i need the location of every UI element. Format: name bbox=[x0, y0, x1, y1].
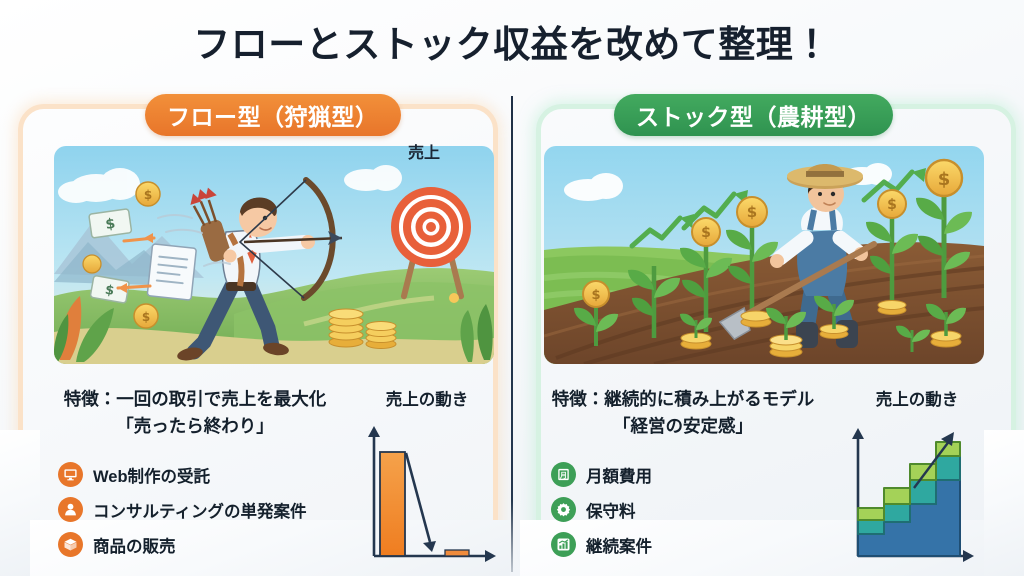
chart-flow-sales-trend: 売上の動き bbox=[352, 386, 502, 568]
badge-stock-type: ストック型（農耕型） bbox=[614, 94, 893, 136]
chart-flow-svg bbox=[352, 412, 502, 570]
list-item-label: 月額費用 bbox=[586, 463, 652, 487]
illustration-archer: $ $ bbox=[54, 146, 494, 364]
chart-stock-sales-trend: 売上の動き bbox=[842, 386, 992, 568]
list-item-label: Web制作の受託 bbox=[93, 463, 210, 487]
chart-title: 売上の動き bbox=[352, 386, 502, 410]
calendar-icon: 月 bbox=[551, 462, 576, 487]
list-item: 商品の販売 bbox=[58, 528, 307, 561]
svg-text:$: $ bbox=[747, 203, 757, 221]
feature-text-stock: 特徴：継続的に積み上がるモデル 「経営の安定感」 bbox=[533, 386, 833, 440]
list-item-label: コンサルティングの単発案件 bbox=[93, 498, 307, 522]
list-item-label: 商品の販売 bbox=[93, 533, 176, 557]
list-item: Web制作の受託 bbox=[58, 458, 307, 491]
growth-chart-icon bbox=[551, 532, 576, 557]
chart-stock-svg bbox=[842, 412, 992, 570]
list-item: 保守料 bbox=[551, 493, 652, 526]
box-icon bbox=[58, 532, 83, 557]
svg-text:$: $ bbox=[938, 169, 951, 190]
bullet-list-stock: 月 月額費用 保守料 継続案件 bbox=[551, 458, 652, 563]
bullet-list-flow: Web制作の受託 コンサルティングの単発案件 商品の販売 bbox=[58, 458, 307, 563]
list-item: コンサルティングの単発案件 bbox=[58, 493, 307, 526]
list-item: 継続案件 bbox=[551, 528, 652, 561]
svg-text:$: $ bbox=[142, 310, 150, 324]
feature-line-1: 特徴：一回の取引で売上を最大化 bbox=[45, 386, 345, 413]
badge-flow-type: フロー型（狩猟型） bbox=[145, 94, 401, 136]
list-item-label: 保守料 bbox=[586, 498, 636, 522]
gear-icon bbox=[551, 497, 576, 522]
illustration-farmer: $ $ bbox=[544, 146, 984, 364]
svg-text:月: 月 bbox=[559, 470, 567, 479]
svg-text:$: $ bbox=[591, 288, 600, 303]
list-item: 月 月額費用 bbox=[551, 458, 652, 491]
infographic-root: フローとストック収益を改めて整理！ フロー型（狩猟型） bbox=[0, 0, 1024, 576]
center-divider bbox=[511, 96, 513, 572]
feature-line-2: 「経営の安定感」 bbox=[533, 413, 833, 440]
monitor-icon bbox=[58, 462, 83, 487]
user-icon bbox=[58, 497, 83, 522]
chart-title: 売上の動き bbox=[842, 386, 992, 410]
feature-line-2: 「売ったら終わり」 bbox=[45, 413, 345, 440]
svg-text:$: $ bbox=[887, 197, 897, 213]
svg-text:$: $ bbox=[701, 225, 711, 241]
svg-text:$: $ bbox=[144, 188, 152, 202]
page-title: フローとストック収益を改めて整理！ bbox=[0, 14, 1024, 68]
feature-line-1: 特徴：継続的に積み上がるモデル bbox=[533, 386, 833, 413]
feature-text-flow: 特徴：一回の取引で売上を最大化 「売ったら終わり」 bbox=[45, 386, 345, 440]
sales-target-label: 売上 bbox=[408, 139, 440, 163]
list-item-label: 継続案件 bbox=[586, 533, 652, 557]
